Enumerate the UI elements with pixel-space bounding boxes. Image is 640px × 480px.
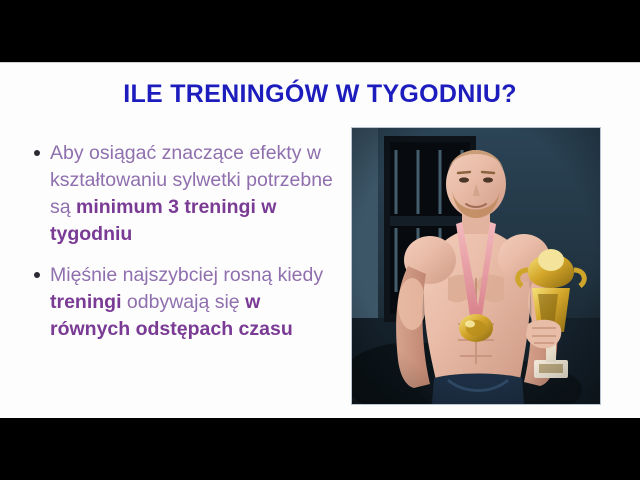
- bodybuilder-photo: [352, 128, 600, 404]
- bullet-segment-emphasis: treningi: [50, 291, 122, 313]
- bullet-text-2: Mięśnie najszybciej rosną kiedy treningi…: [50, 264, 323, 340]
- bullet-segment-plain: Mięśnie najszybciej rosną kiedy: [50, 264, 323, 286]
- bullet-segment-plain: odbywają się: [122, 291, 246, 313]
- letterbox-bar-top: [0, 0, 640, 62]
- video-frame: ILE TRENINGÓW W TYGODNIU? Aby osiągać zn…: [0, 0, 640, 480]
- list-item: Aby osiągać znaczące efekty w kształtowa…: [26, 140, 338, 248]
- bullet-dot-icon: [34, 272, 40, 278]
- bullet-segment-emphasis: minimum 3 treningi w tygodniu: [50, 196, 276, 245]
- photo-artwork: [352, 128, 600, 404]
- bullet-dot-icon: [34, 150, 40, 156]
- bullet-text-1: Aby osiągać znaczące efekty w kształtowa…: [50, 142, 333, 245]
- letterbox-bar-bottom: [0, 418, 640, 480]
- bullet-list: Aby osiągać znaczące efekty w kształtowa…: [26, 140, 338, 357]
- list-item: Mięśnie najszybciej rosną kiedy treningi…: [26, 262, 338, 343]
- slide-title: ILE TRENINGÓW W TYGODNIU?: [0, 80, 640, 109]
- presentation-slide: ILE TRENINGÓW W TYGODNIU? Aby osiągać zn…: [0, 62, 640, 418]
